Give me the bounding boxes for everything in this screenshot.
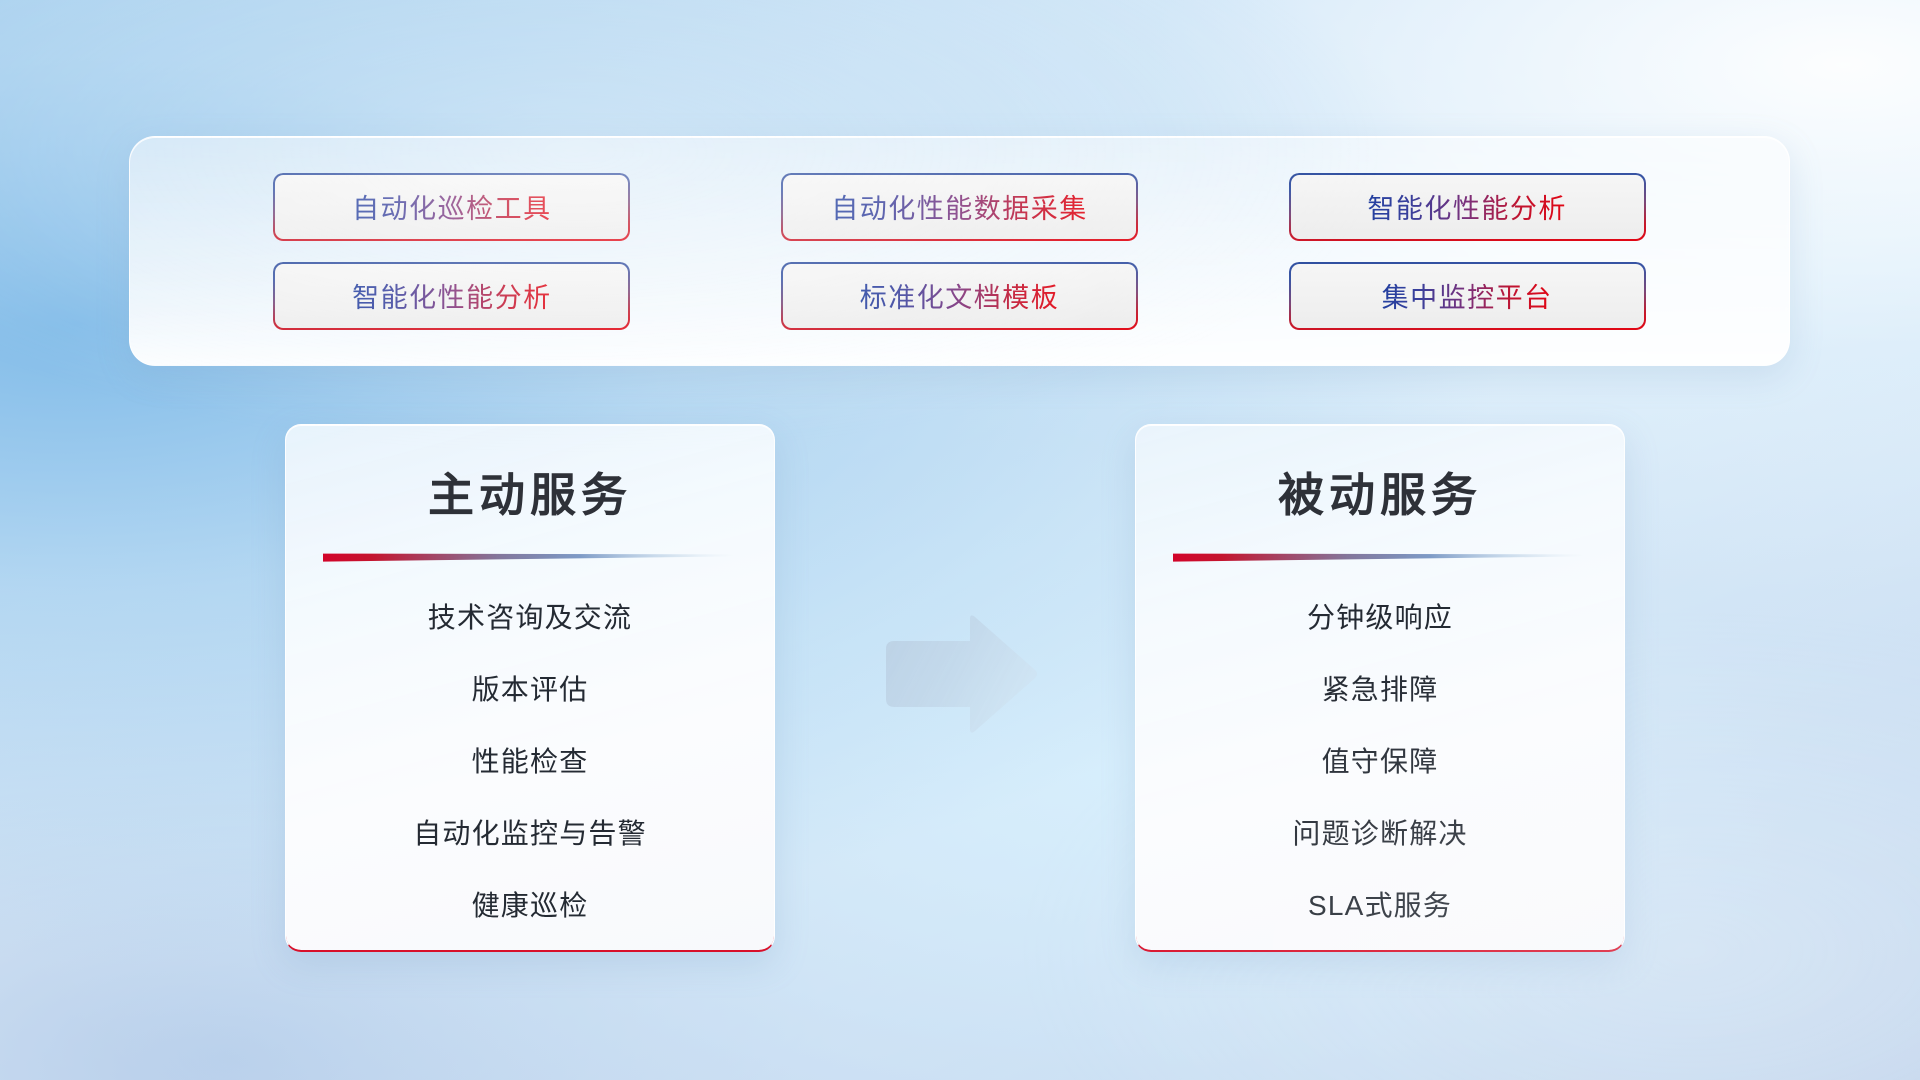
service-list-item: 性能检查 [286, 738, 774, 786]
capability-chip-4[interactable]: 智能化性能分析 [273, 262, 630, 330]
title-divider [1173, 551, 1587, 562]
infographic-canvas: 自动化巡检工具 自动化性能数据采集 智能化性能分析 智能化性能分析 [0, 0, 1920, 1080]
service-card-title: 被动服务 [1136, 425, 1624, 525]
service-list-item: 健康巡检 [286, 882, 774, 930]
capability-chip-cell: 智能化性能分析 [1213, 173, 1721, 241]
capability-chip-label: 智能化性能分析 [352, 276, 552, 315]
service-item-list: 技术咨询及交流 版本评估 性能检查 自动化监控与告警 健康巡检 [286, 562, 774, 952]
capability-chip-label: 自动化性能数据采集 [831, 187, 1088, 226]
capability-chip-label: 集中监控平台 [1382, 276, 1553, 315]
capability-chip-cell: 智能化性能分析 [198, 262, 706, 330]
service-list-item: 分钟级响应 [1136, 594, 1624, 642]
service-item-list: 分钟级响应 紧急排障 值守保障 问题诊断解决 SLA式服务 [1136, 562, 1624, 952]
capability-chip-cell: 集中监控平台 [1213, 262, 1721, 330]
capability-chip-5[interactable]: 标准化文档模板 [781, 262, 1138, 330]
service-list-item: 自动化监控与告警 [286, 810, 774, 858]
service-card-reactive: 被动服务 分钟级响应 紧急排障 值守保障 [1135, 424, 1625, 952]
capability-chip-2[interactable]: 自动化性能数据采集 [781, 173, 1138, 241]
service-list-item: 值守保障 [1136, 738, 1624, 786]
service-list-item: 版本评估 [286, 666, 774, 714]
service-card-proactive: 主动服务 技术咨询及交流 版本评估 性能检查 [285, 424, 775, 952]
right-arrow-icon [880, 613, 1040, 733]
capability-chip-6[interactable]: 集中监控平台 [1289, 262, 1646, 330]
service-list-item: 问题诊断解决 [1136, 810, 1624, 858]
service-list-item: SLA式服务 [1136, 882, 1624, 930]
capability-chip-label: 智能化性能分析 [1367, 187, 1567, 226]
capability-chip-grid: 自动化巡检工具 自动化性能数据采集 智能化性能分析 智能化性能分析 [130, 173, 1789, 330]
capability-chip-label: 标准化文档模板 [860, 276, 1060, 315]
capability-panel: 自动化巡检工具 自动化性能数据采集 智能化性能分析 智能化性能分析 [129, 136, 1790, 366]
capability-chip-cell: 标准化文档模板 [706, 262, 1214, 330]
capability-chip-cell: 自动化巡检工具 [198, 173, 706, 241]
service-list-item: 紧急排障 [1136, 666, 1624, 714]
title-divider [323, 551, 737, 562]
capability-chip-cell: 自动化性能数据采集 [706, 173, 1214, 241]
capability-chip-label: 自动化巡检工具 [352, 187, 552, 226]
service-list-item: 技术咨询及交流 [286, 594, 774, 642]
capability-chip-1[interactable]: 自动化巡检工具 [273, 173, 630, 241]
service-card-title: 主动服务 [286, 425, 774, 525]
capability-chip-3[interactable]: 智能化性能分析 [1289, 173, 1646, 241]
